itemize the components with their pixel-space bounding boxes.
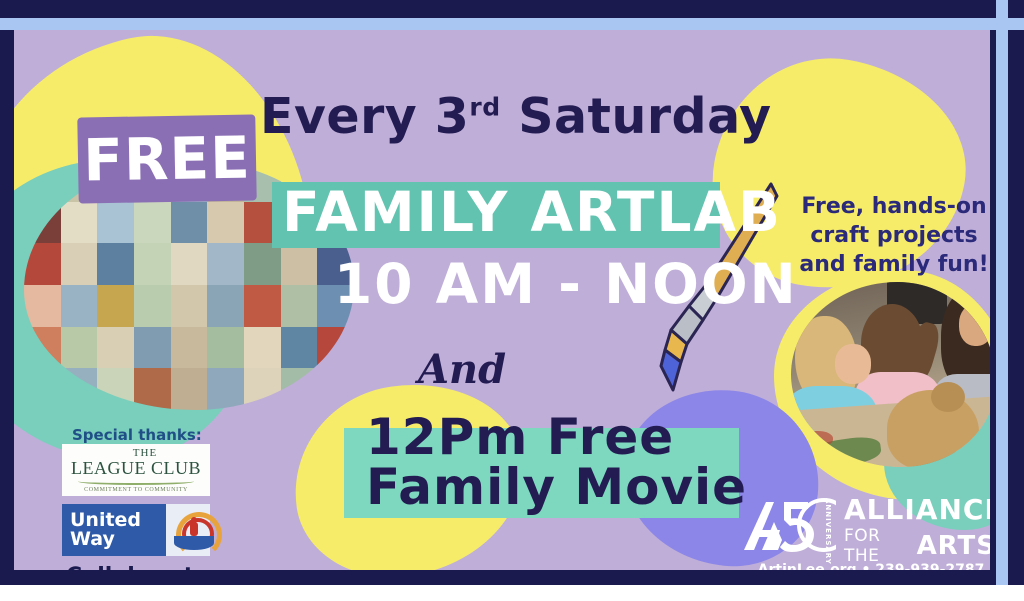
alliance-for-the-arts-logo: ANNIVERSARY ALLIANCE FOR THE ARTS: [740, 496, 990, 558]
alliance-for-the: FOR THE: [844, 526, 912, 566]
alliance-name: ALLIANCE: [844, 496, 990, 524]
paint-swatch: [244, 243, 281, 285]
paint-swatch: [61, 202, 98, 244]
league-club-name: LEAGUE CLUB: [71, 459, 201, 477]
connector-and: And: [418, 346, 506, 393]
headline-date-rest: Saturday: [501, 88, 772, 145]
paint-swatch: [317, 327, 354, 369]
paint-swatch: [207, 243, 244, 285]
contact-info: ArtinLee.org • 239-939-2787 10091 McGreg…: [740, 562, 990, 570]
program-hours: 10 AM - NOON: [334, 252, 754, 316]
a50-anniversary-icon: [740, 496, 836, 554]
bottom-white-strip: [0, 585, 1024, 601]
anniversary-label: ANNIVERSARY: [824, 498, 832, 552]
paint-swatch: [207, 368, 244, 410]
paint-swatch: [171, 202, 208, 244]
side-description: Free, hands-on craft projects and family…: [790, 192, 990, 279]
headline-date: Every 3rd Saturday: [260, 88, 740, 145]
light-blue-vertical-stripe: [996, 0, 1008, 585]
paint-swatch: [171, 243, 208, 285]
paint-swatch: [134, 243, 171, 285]
paint-swatch: [24, 285, 61, 327]
paint-swatch: [207, 327, 244, 369]
paint-swatch: [207, 202, 244, 244]
paint-swatch: [97, 285, 134, 327]
paint-swatch: [134, 202, 171, 244]
paint-swatch: [244, 368, 281, 410]
photo-artwork-paint: [799, 431, 833, 447]
special-thanks-label: Special thanks:: [72, 426, 202, 444]
headline-date-ordinal: rd: [469, 93, 500, 122]
kids-craft-photo: [791, 282, 990, 467]
paint-swatch: [281, 327, 318, 369]
united-way-line-2: Way: [70, 530, 166, 549]
poster: FREE Every 3rd Saturday FAMILY ARTLAB 10…: [0, 0, 1024, 601]
paint-swatch: [97, 202, 134, 244]
paint-swatch: [281, 285, 318, 327]
alliance-arts: ARTS: [917, 533, 990, 559]
united-way-wordmark: United Way: [62, 504, 166, 556]
paint-swatch: [281, 243, 318, 285]
united-way-logo: United Way: [62, 504, 210, 556]
paint-swatch: [171, 285, 208, 327]
paint-swatch: [207, 285, 244, 327]
paint-swatch: [281, 368, 318, 410]
paint-swatch: [134, 327, 171, 369]
light-blue-horizontal-stripe: [0, 18, 1024, 30]
paint-swatch: [97, 243, 134, 285]
photo-child-standing-face: [959, 304, 990, 346]
paint-swatch: [171, 368, 208, 410]
program-title: FAMILY ARTLAB: [282, 180, 742, 244]
free-badge-label: FREE: [83, 129, 252, 190]
headline-date-main: Every 3: [260, 88, 469, 145]
league-club-tagline: COMMITMENT TO COMMUNITY: [84, 487, 188, 493]
alliance-wordmark: ALLIANCE FOR THE ARTS: [844, 496, 990, 566]
league-club-swoosh: [78, 478, 194, 485]
paint-swatch: [97, 327, 134, 369]
free-badge: FREE: [77, 114, 256, 203]
paint-swatch: [61, 285, 98, 327]
paint-swatch: [61, 243, 98, 285]
collaboratory-logo: Collaboratory: [66, 564, 235, 570]
photo-child-left-face: [835, 344, 871, 384]
united-way-hand: [174, 536, 214, 550]
united-way-person-body: [190, 522, 198, 536]
league-club-logo: THE LEAGUE CLUB COMMITMENT TO COMMUNITY: [62, 444, 210, 496]
paint-swatch: [61, 327, 98, 369]
paint-swatch: [244, 285, 281, 327]
contact-line-1: ArtinLee.org • 239-939-2787: [740, 562, 990, 570]
paint-swatch: [134, 285, 171, 327]
poster-panel: FREE Every 3rd Saturday FAMILY ARTLAB 10…: [14, 30, 990, 570]
alliance-subline: FOR THE ARTS: [844, 526, 990, 566]
paint-swatch: [171, 327, 208, 369]
photo-child-front-bun: [931, 382, 965, 412]
united-way-emblem-icon: [166, 504, 210, 556]
paint-swatch: [244, 327, 281, 369]
